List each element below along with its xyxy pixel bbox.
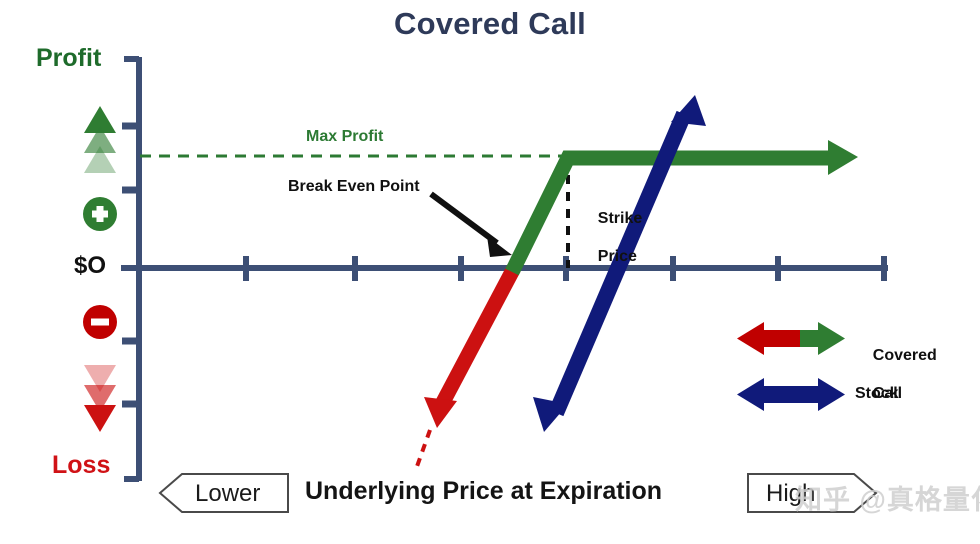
strike-price-line-2: Price [598, 248, 637, 265]
legend-covered-call-label: Covered Call [855, 327, 937, 422]
plus-circle-icon [83, 197, 117, 231]
triangle-down-icon [84, 405, 116, 432]
x-axis-lower-label: Lower [195, 480, 260, 508]
x-axis-title: Underlying Price at Expiration [305, 477, 662, 506]
legend-stock-swatch [737, 378, 845, 411]
break-even-arrow [431, 194, 512, 257]
covered-call-loss-leg [415, 268, 514, 472]
origin-zero-label: $O [74, 252, 106, 280]
profit-indicator-icons [84, 106, 116, 173]
legend-stock-label: Stock [855, 385, 899, 403]
chart-canvas [0, 0, 980, 544]
strike-price-line-1: Strike [598, 210, 642, 227]
max-profit-label: Max Profit [306, 128, 383, 146]
minus-circle-icon [83, 305, 117, 339]
break-even-point-label: Break Even Point [288, 178, 420, 196]
strike-price-label: Strike Price [580, 190, 642, 285]
page-title: Covered Call [0, 6, 980, 42]
watermark-text: 知乎 @真格量化 [795, 478, 980, 517]
covered-call-diagram: Covered Call Profit Loss $O Max Profit B… [0, 0, 980, 544]
covered-call-profit-leg [512, 140, 858, 272]
loss-indicator-icons [84, 365, 116, 432]
y-axis-profit-label: Profit [36, 44, 101, 73]
legend-covered-call-line-1: Covered [873, 347, 937, 364]
axis-group [121, 57, 888, 481]
legend-covered-call-swatch [737, 322, 845, 355]
y-axis-loss-label: Loss [52, 451, 110, 480]
